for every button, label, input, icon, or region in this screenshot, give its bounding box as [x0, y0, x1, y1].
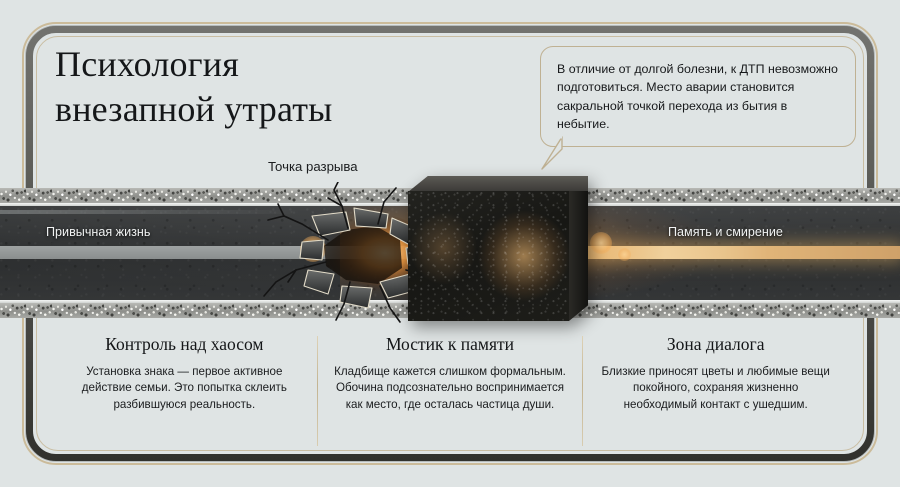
column-heading: Зона диалога [597, 334, 834, 355]
column-body: Близкие приносят цветы и любимые вещи по… [597, 364, 834, 413]
column-bridge-to-memory: Мостик к памяти Кладбище кажется слишком… [318, 334, 583, 446]
explanation-columns: Контроль над хаосом Установка знака — пе… [52, 334, 848, 446]
monument-front-face [408, 191, 569, 321]
monument-granite-speckle [408, 191, 569, 321]
page-title-line-2: внезапной утраты [55, 87, 485, 132]
road-label-left: Привычная жизнь [46, 225, 150, 239]
column-heading: Контроль над хаосом [66, 334, 303, 355]
road-centre-stripe-grey [0, 246, 420, 259]
infographic-canvas: Психология внезапной утраты В отличие от… [0, 0, 900, 487]
column-body: Кладбище кажется слишком формальным. Обо… [332, 364, 569, 413]
break-point-label: Точка разрыва [268, 159, 358, 174]
page-title: Психология внезапной утраты [55, 42, 485, 131]
column-body: Установка знака — первое активное действ… [66, 364, 303, 413]
callout-bubble: В отличие от долгой болезни, к ДТП невоз… [540, 46, 856, 147]
monument-side-face [569, 191, 588, 321]
column-control-over-chaos: Контроль над хаосом Установка знака — пе… [52, 334, 317, 446]
monument-top-face [408, 176, 588, 192]
column-dialogue-zone: Зона диалога Близкие приносят цветы и лю… [583, 334, 848, 446]
callout-bubble-text: В отличие от долгой болезни, к ДТП невоз… [557, 62, 838, 131]
page-title-line-1: Психология [55, 42, 485, 87]
road-upper-faint-stripe [0, 210, 300, 214]
road-label-right: Память и смирение [668, 225, 783, 239]
column-heading: Мостик к памяти [332, 334, 569, 355]
granite-memorial-block [408, 176, 588, 321]
